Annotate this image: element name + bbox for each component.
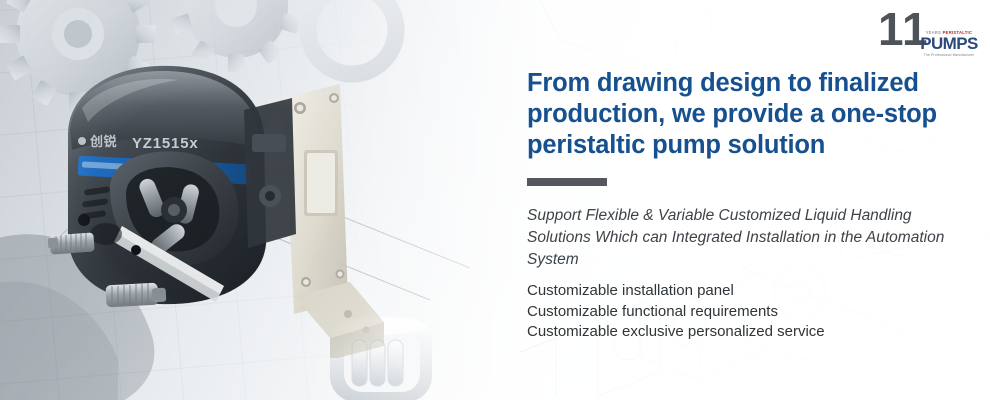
promo-banner: 创锐 YZ1515x From drawing design to finali… [0, 0, 990, 400]
mounting-bracket [284, 84, 384, 358]
brand-mark-text: 创锐 [89, 134, 117, 149]
headline-divider [527, 178, 607, 186]
feature-item: Customizable functional requirements [527, 302, 947, 323]
banner-subtitle: Support Flexible & Variable Customized L… [527, 205, 947, 271]
model-label-text: YZ1515x [132, 135, 198, 152]
feature-list: Customizable installation panel Customiz… [527, 281, 947, 343]
knurled-fitting-upper [48, 232, 95, 254]
pump-body [68, 66, 296, 304]
company-logo: 11 YEARS PERISTALTIC PUMPS The Professio… [878, 6, 982, 60]
feature-item: Customizable installation panel [527, 281, 947, 302]
feature-item: Customizable exclusive personalized serv… [527, 322, 947, 343]
banner-content: From drawing design to finalized product… [527, 0, 957, 400]
logo-wordmark-group: YEARS PERISTALTIC PUMPS The Professional… [918, 30, 980, 58]
logo-wordmark: PUMPS [918, 35, 980, 53]
banner-headline: From drawing design to finalized product… [527, 68, 952, 161]
logo-subtagline: The Professional Manufacturer [918, 53, 980, 58]
product-photo-peristaltic-pump: 创锐 YZ1515x [48, 38, 448, 358]
